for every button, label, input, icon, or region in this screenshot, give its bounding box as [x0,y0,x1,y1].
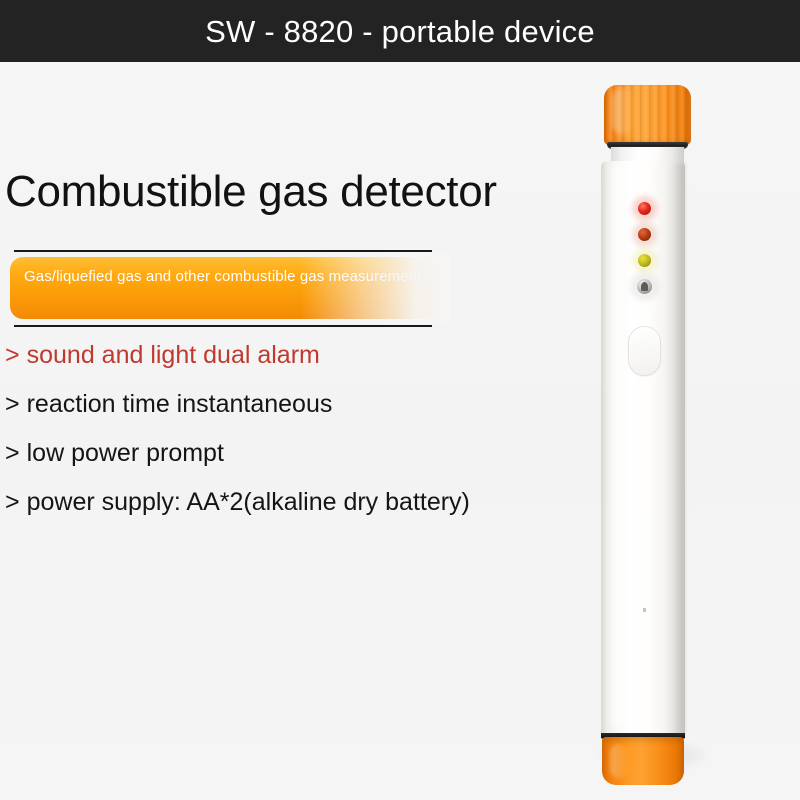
copy-block: Combustible gas detector Gas/liquefied g… [0,62,560,800]
device-body-shading [672,163,685,735]
device-body-mark [643,608,646,612]
device-bottom-cap-highlight [610,744,628,778]
divider-top [14,250,432,252]
feature-label: power supply: AA*2(alkaline dry battery) [27,490,470,515]
product-marketing-image: SW - 8820 - portable device Combustible … [0,0,800,800]
feature-item-2: > low power prompt [5,441,560,466]
device-body-highlight [612,166,629,726]
feature-item-1: > reaction time instantaneous [5,392,560,417]
feature-item-0: > sound and light dual alarm [5,343,560,368]
feature-label: reaction time instantaneous [27,392,333,417]
page-title: Combustible gas detector [5,170,497,214]
product-image [560,62,800,800]
buzzer-bell-glyph-icon [641,282,648,291]
bullet-marker-icon: > [5,343,20,368]
alarm-led-yellow-icon [638,254,651,267]
subtitle-banner: Gas/liquefied gas and other combustible … [10,257,450,319]
banner-text: Gas/liquefied gas and other combustible … [24,266,424,287]
feature-list: > sound and light dual alarm > reaction … [5,343,560,539]
divider-bottom [14,325,432,327]
feature-label: low power prompt [27,441,224,466]
alarm-led-red-icon [638,202,651,215]
bullet-marker-icon: > [5,392,20,417]
alarm-led-dark-red-icon [638,228,651,241]
bullet-marker-icon: > [5,490,20,515]
bullet-marker-icon: > [5,441,20,466]
feature-item-3: > power supply: AA*2(alkaline dry batter… [5,490,560,515]
device-power-button [629,327,660,375]
header-bar: SW - 8820 - portable device [0,0,800,62]
device-top-cap-highlight [612,88,634,134]
feature-label: sound and light dual alarm [27,343,320,368]
header-title: SW - 8820 - portable device [205,16,595,47]
